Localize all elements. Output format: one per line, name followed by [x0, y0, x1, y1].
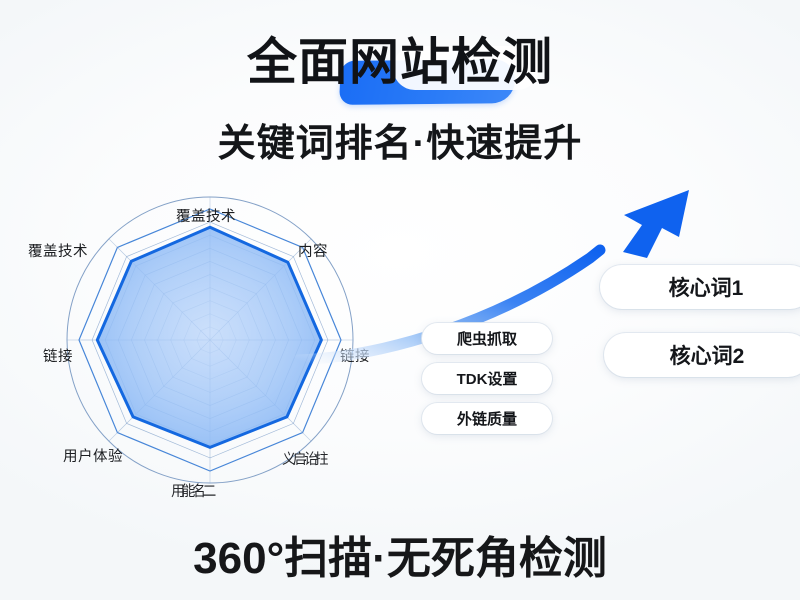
callout-pill-crawl[interactable]: 爬虫抓取 [422, 323, 552, 354]
radar-label-bottom: 用能名二 [171, 480, 213, 501]
page-subtitle: 关键词排名·快速提升 [0, 112, 800, 167]
title-block: 全面网站检测 [0, 34, 800, 92]
radar-label-top-left: 覆盖技术 [28, 240, 88, 261]
title-inner: 全面网站检测 [247, 34, 553, 92]
callout-pill-outlink[interactable]: 外链质量 [422, 403, 552, 434]
radar-label-bottom-right: 义启·诒拄 [282, 448, 325, 469]
footer-headline: 360°扫描·无死角检测 [0, 522, 800, 586]
radar-label-top: 覆盖技术 [176, 205, 236, 226]
keyword-pill-1[interactable]: 核心词1 [600, 265, 800, 309]
radar-label-left: 链接 [43, 345, 73, 366]
callout-pill-tdk[interactable]: TDK设置 [422, 363, 552, 394]
page-title: 全面网站检测 [247, 34, 553, 92]
radar-series [97, 227, 321, 447]
keyword-pill-2[interactable]: 核心词2 [604, 333, 800, 377]
poster-canvas: 全面网站检测 关键词排名·快速提升 覆盖技术 内容 链接 义启·诒拄 用能名二 … [0, 0, 800, 600]
radar-label-bottom-left: 用户体验 [63, 445, 123, 466]
